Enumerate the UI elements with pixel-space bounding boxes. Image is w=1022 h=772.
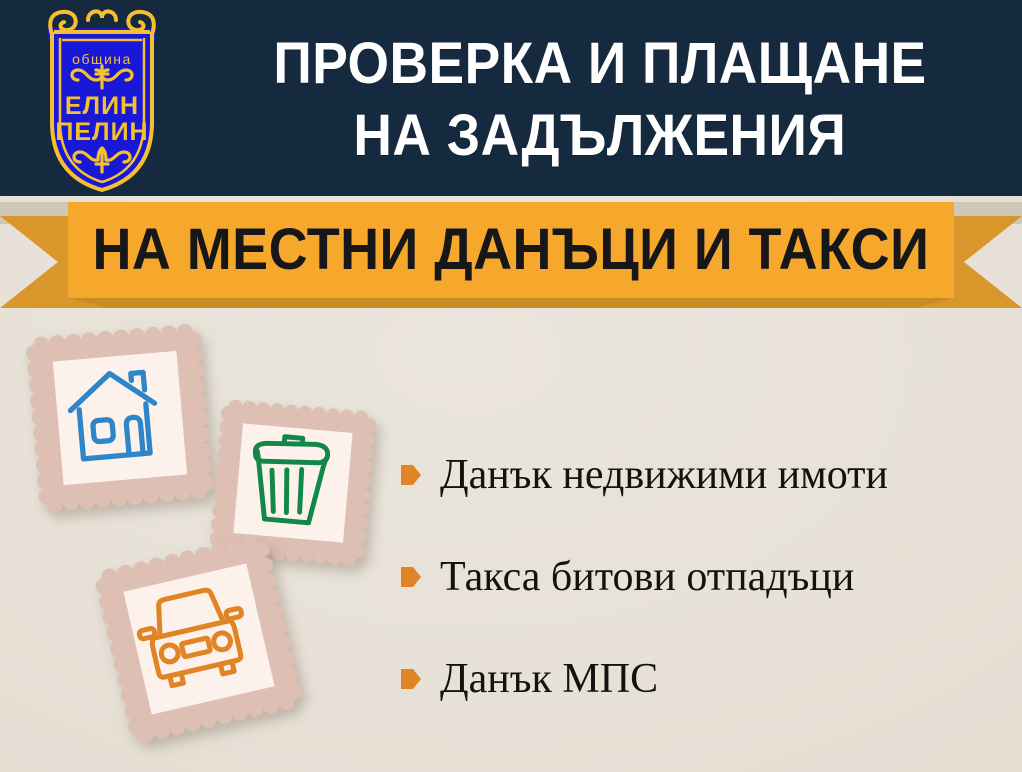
list-item-label: Данък недвижими имоти <box>440 451 888 499</box>
tax-types-list: Данък недвижими имоти Такса битови отпад… <box>400 424 1012 730</box>
ribbon-shadow <box>68 298 954 308</box>
list-item: Данък недвижими имоти <box>400 424 1012 526</box>
header-title-block: ПРОВЕРКА И ПЛАЩАНЕ НА ЗАДЪЛЖЕНИЯ <box>190 12 1010 188</box>
svg-text:ЕЛИН: ЕЛИН <box>65 92 139 120</box>
municipality-crest-logo: община ЕЛИН ПЕЛИН <box>18 4 186 194</box>
list-item-label: Такса битови отпадъци <box>440 553 854 601</box>
subtitle-ribbon: НА МЕСТНИ ДАНЪЦИ И ТАКСИ <box>0 196 1022 312</box>
list-item: Такса битови отпадъци <box>400 526 1012 628</box>
list-item-label: Данък МПС <box>440 655 658 703</box>
ribbon-main-panel: НА МЕСТНИ ДАНЪЦИ И ТАКСИ <box>68 202 954 298</box>
stamp-card-property-tax <box>14 312 226 524</box>
poster-root: община ЕЛИН ПЕЛИН ПРОВЕРКА И ПЛА <box>0 0 1022 772</box>
svg-text:ПЕЛИН: ПЕЛИН <box>55 118 148 146</box>
bullet-arrow-icon <box>400 667 422 691</box>
header-title-line-1: ПРОВЕРКА И ПЛАЩАНЕ <box>273 29 926 99</box>
ribbon-label: НА МЕСТНИ ДАНЪЦИ И ТАКСИ <box>93 219 930 281</box>
bullet-arrow-icon <box>400 565 422 589</box>
stamp-card-vehicle-tax <box>88 528 310 750</box>
list-item: Данък МПС <box>400 628 1012 730</box>
header-title-line-2: НА ЗАДЪЛЖЕНИЯ <box>354 101 847 171</box>
bullet-arrow-icon <box>400 463 422 487</box>
